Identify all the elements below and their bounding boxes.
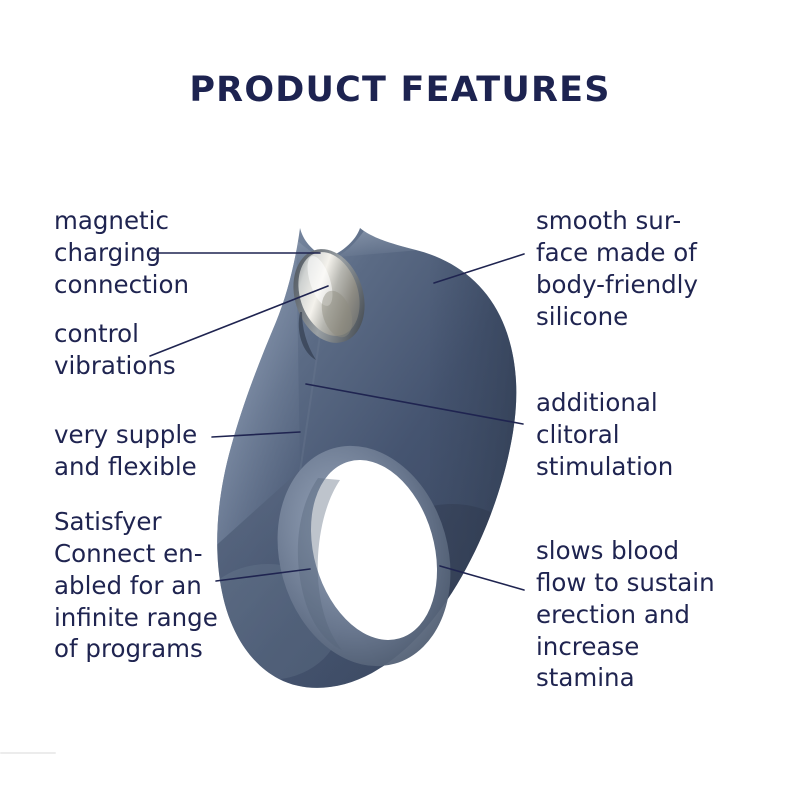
callout-slows-blood-flow: slows blood flow to sustain erection and… bbox=[536, 535, 761, 694]
callout-additional-clitoral-stimulation: additional clitoral stimulation bbox=[536, 387, 751, 483]
callout-magnetic-charging-connection: magnetic charging connection bbox=[54, 205, 264, 301]
footer-divider bbox=[0, 752, 56, 754]
callout-satisfyer-connect-enabled: Satisfyer Connect en- abled for an infin… bbox=[54, 506, 259, 665]
callout-smooth-surface-silicone: smooth sur- face made of body-friendly s… bbox=[536, 205, 766, 332]
callout-control-vibrations: control vibrations bbox=[54, 318, 254, 382]
body-right-rim-shadow bbox=[430, 200, 550, 720]
callout-very-supple-and-flexible: very supple and flexible bbox=[54, 419, 269, 483]
product-features-infographic: PRODUCT FEATURES bbox=[0, 0, 800, 800]
